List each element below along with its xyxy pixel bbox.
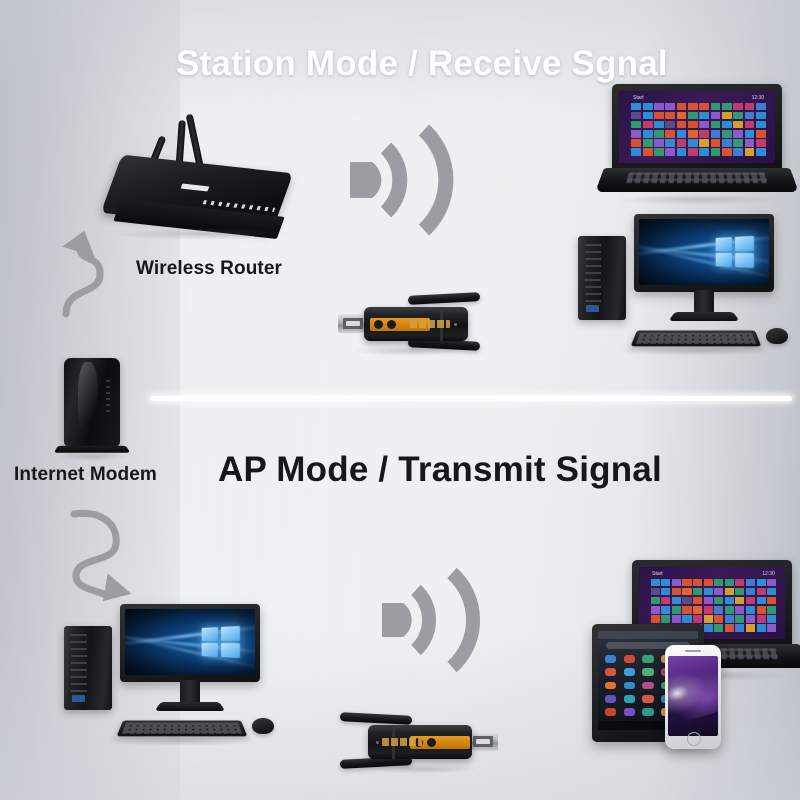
modem-gloss — [78, 362, 98, 438]
start-tile — [693, 606, 702, 614]
start-tile — [746, 615, 755, 623]
usb-wifi-adapter-top — [322, 284, 502, 364]
adapter-antenna-upper — [408, 292, 480, 305]
start-tile — [699, 130, 709, 138]
adapter-led — [376, 741, 379, 744]
start-tile — [643, 121, 653, 129]
start-tile — [745, 139, 755, 147]
start-tile — [735, 588, 744, 596]
start-tile — [665, 148, 675, 156]
tablet-app-icon — [642, 682, 653, 690]
start-tile — [745, 112, 755, 120]
modem-body — [64, 358, 120, 446]
start-tile — [714, 606, 723, 614]
laptop-lid: Start 12:30 — [612, 84, 782, 170]
desktop-computer-top — [578, 214, 786, 354]
laptop-keys — [626, 172, 768, 183]
start-tile — [711, 103, 721, 111]
start-tile — [651, 597, 660, 605]
start-tile — [757, 615, 766, 623]
start-tile — [714, 624, 723, 632]
start-tile — [757, 624, 766, 632]
start-tile — [733, 130, 743, 138]
start-tile — [756, 103, 766, 111]
phone-home-button — [687, 732, 701, 746]
start-tile — [643, 112, 653, 120]
laptop-top: Start 12:30 — [604, 84, 790, 206]
start-tile — [722, 121, 732, 129]
start-tile — [746, 588, 755, 596]
monitor-neck — [180, 680, 200, 702]
wireless-router-label: Wireless Router — [136, 258, 282, 280]
start-tile — [665, 121, 675, 129]
start-tile — [757, 606, 766, 614]
start-tile — [735, 615, 744, 623]
start-tile — [682, 615, 691, 623]
tablet-app-icon — [642, 655, 653, 663]
laptop-clock-text: 12:30 — [752, 95, 765, 101]
start-tile — [733, 103, 743, 111]
start-tile — [688, 139, 698, 147]
start-tile — [756, 148, 766, 156]
start-tile — [711, 148, 721, 156]
adapter-usb-connector — [468, 732, 498, 751]
adapter-model-text — [382, 738, 422, 746]
adapter-shadow — [352, 346, 462, 356]
start-tile — [704, 624, 713, 632]
start-tile — [665, 112, 675, 120]
start-tile — [699, 103, 709, 111]
laptop-shadow — [615, 194, 779, 205]
start-tile — [631, 139, 641, 147]
tablet-status-bar — [598, 631, 698, 639]
tablet-app-icon — [624, 655, 635, 663]
laptop-screen: Start 12:30 — [619, 91, 775, 163]
start-tile — [693, 597, 702, 605]
start-tile — [654, 112, 664, 120]
start-tile — [745, 103, 755, 111]
pc-tower — [578, 236, 626, 320]
adapter-led — [454, 323, 457, 326]
monitor-neck — [694, 290, 714, 312]
start-tile — [757, 597, 766, 605]
wifi-signal-top — [338, 122, 490, 238]
start-tile — [654, 103, 664, 111]
start-tile — [654, 130, 664, 138]
start-tile — [654, 148, 664, 156]
start-tile — [651, 588, 660, 596]
start-tile — [714, 579, 723, 587]
tablet-app-icon — [605, 708, 616, 716]
start-tile — [746, 597, 755, 605]
start-tile — [735, 597, 744, 605]
desktop-computer-bottom — [64, 604, 278, 746]
start-tile — [651, 579, 660, 587]
start-tile — [722, 148, 732, 156]
start-tile — [733, 139, 743, 147]
start-tile — [733, 112, 743, 120]
monitor-stand — [668, 312, 739, 321]
pc-tower-badge — [72, 695, 85, 702]
start-tile — [733, 148, 743, 156]
phone-wallpaper — [668, 660, 718, 727]
start-tile — [722, 130, 732, 138]
tablet-app-icon — [624, 682, 635, 690]
start-tile — [688, 148, 698, 156]
start-tile — [756, 121, 766, 129]
pc-tower-vents — [71, 634, 87, 696]
start-tile — [654, 121, 664, 129]
start-tile — [672, 597, 681, 605]
tablet-app-icon — [642, 708, 653, 716]
start-tile — [693, 615, 702, 623]
laptop-start-text: Start — [633, 95, 644, 101]
start-tile — [661, 579, 670, 587]
start-tile — [682, 597, 691, 605]
start-tile — [677, 121, 687, 129]
start-tile — [767, 597, 776, 605]
start-tile — [767, 588, 776, 596]
monitor-screen — [125, 609, 255, 675]
start-tile — [714, 588, 723, 596]
start-tile — [693, 588, 702, 596]
start-tile — [643, 139, 653, 147]
start-tile — [677, 103, 687, 111]
start-tile — [643, 148, 653, 156]
start-tile — [757, 588, 766, 596]
laptop-keyboard-base — [595, 168, 799, 192]
start-tile — [756, 130, 766, 138]
start-tile — [661, 606, 670, 614]
start-tile — [757, 579, 766, 587]
start-tile — [682, 588, 691, 596]
start-tile — [688, 121, 698, 129]
start-tile — [714, 597, 723, 605]
start-tile — [756, 112, 766, 120]
arrow-modem-to-router — [58, 222, 154, 318]
tablet-app-icon — [624, 695, 635, 703]
start-tile — [767, 579, 776, 587]
windows-logo-icon — [202, 626, 240, 659]
start-tile — [643, 130, 653, 138]
start-tile — [711, 130, 721, 138]
desktop-shadow — [618, 346, 768, 356]
start-tile — [735, 579, 744, 587]
tablet-app-icon — [624, 708, 635, 716]
start-tile — [767, 624, 776, 632]
adapter-shadow — [370, 764, 480, 774]
start-tile — [704, 597, 713, 605]
start-tile — [651, 615, 660, 623]
start-tile — [672, 615, 681, 623]
monitor-screen — [639, 219, 769, 285]
adapter-model-text — [410, 320, 450, 328]
start-tile — [711, 112, 721, 120]
wifi-signal-bottom — [372, 566, 512, 674]
start-tile — [746, 579, 755, 587]
start-tile — [682, 579, 691, 587]
phone-screen — [668, 656, 718, 736]
start-tile — [654, 139, 664, 147]
modem-vent — [106, 380, 110, 414]
start-tile — [631, 112, 641, 120]
internet-modem-label: Internet Modem — [14, 464, 157, 486]
start-tile — [735, 606, 744, 614]
start-tile — [699, 148, 709, 156]
infographic-canvas: Station Mode / Receive Sgnal AP Mode / T… — [0, 0, 800, 800]
smartphone — [665, 645, 721, 749]
keyboard — [117, 721, 248, 737]
tablet-app-icon — [605, 668, 616, 676]
start-tile — [631, 148, 641, 156]
start-tile — [725, 597, 734, 605]
start-tile — [767, 606, 776, 614]
adapter-antenna-upper — [340, 712, 412, 725]
monitor — [634, 214, 774, 292]
start-tile — [688, 112, 698, 120]
pc-tower-badge — [586, 305, 599, 312]
start-tile — [631, 103, 641, 111]
start-tile — [677, 139, 687, 147]
start-tile — [699, 121, 709, 129]
start-tile — [699, 139, 709, 147]
internet-modem — [56, 358, 132, 462]
station-mode-title: Station Mode / Receive Sgnal — [176, 44, 668, 84]
start-tile — [735, 624, 744, 632]
start-tile — [725, 615, 734, 623]
start-tile — [643, 103, 653, 111]
arrow-modem-to-computer — [60, 508, 166, 612]
start-tile — [661, 588, 670, 596]
start-tile — [677, 148, 687, 156]
monitor-stand — [154, 702, 225, 711]
start-tile — [631, 121, 641, 129]
start-tile — [756, 139, 766, 147]
tablet-app-icon — [605, 682, 616, 690]
pc-tower-vents — [585, 244, 601, 306]
tablet-app-icon — [605, 655, 616, 663]
mouse — [766, 328, 788, 344]
start-tile — [688, 103, 698, 111]
start-tile — [651, 606, 660, 614]
keyboard — [631, 331, 762, 347]
start-tile — [704, 606, 713, 614]
start-tile — [725, 624, 734, 632]
laptop-start-text: Start — [652, 571, 663, 577]
start-tile — [725, 606, 734, 614]
start-tile — [704, 588, 713, 596]
start-tile — [704, 615, 713, 623]
start-tile — [677, 130, 687, 138]
start-tile — [704, 579, 713, 587]
phone-speaker — [685, 650, 701, 652]
start-tile — [688, 130, 698, 138]
start-tile — [711, 139, 721, 147]
start-tile — [661, 615, 670, 623]
start-tile — [746, 624, 755, 632]
monitor — [120, 604, 260, 682]
start-tile — [677, 112, 687, 120]
start-tile — [725, 579, 734, 587]
pc-tower — [64, 626, 112, 710]
desktop-shadow — [104, 736, 254, 746]
start-tile — [699, 112, 709, 120]
start-tile — [661, 597, 670, 605]
mouse — [252, 718, 274, 734]
start-tile — [725, 588, 734, 596]
start-tile — [682, 606, 691, 614]
start-tile — [746, 606, 755, 614]
section-divider — [150, 396, 792, 401]
modem-shadow — [58, 452, 128, 461]
tablet-app-icon — [605, 695, 616, 703]
start-tile — [711, 121, 721, 129]
windows-logo-icon — [716, 236, 754, 269]
laptop-clock-text: 12:30 — [762, 571, 775, 577]
start-tile — [722, 103, 732, 111]
usb-wifi-adapter-bottom — [334, 702, 514, 782]
start-tile — [693, 579, 702, 587]
start-tile — [665, 130, 675, 138]
start-tile — [722, 112, 732, 120]
start-tile — [665, 103, 675, 111]
start-tile — [672, 579, 681, 587]
start-tile — [733, 121, 743, 129]
tablet-app-icon — [624, 668, 635, 676]
start-tile — [745, 121, 755, 129]
windows-start-tiles — [631, 103, 765, 156]
tablet-app-icon — [642, 695, 653, 703]
start-tile — [714, 615, 723, 623]
ap-mode-title: AP Mode / Transmit Signal — [218, 450, 662, 490]
start-tile — [665, 139, 675, 147]
start-tile — [631, 130, 641, 138]
start-tile — [672, 606, 681, 614]
start-tile — [767, 615, 776, 623]
start-tile — [672, 588, 681, 596]
start-tile — [722, 139, 732, 147]
start-tile — [745, 148, 755, 156]
tablet-app-icon — [642, 668, 653, 676]
wireless-router — [98, 112, 298, 240]
start-tile — [745, 130, 755, 138]
